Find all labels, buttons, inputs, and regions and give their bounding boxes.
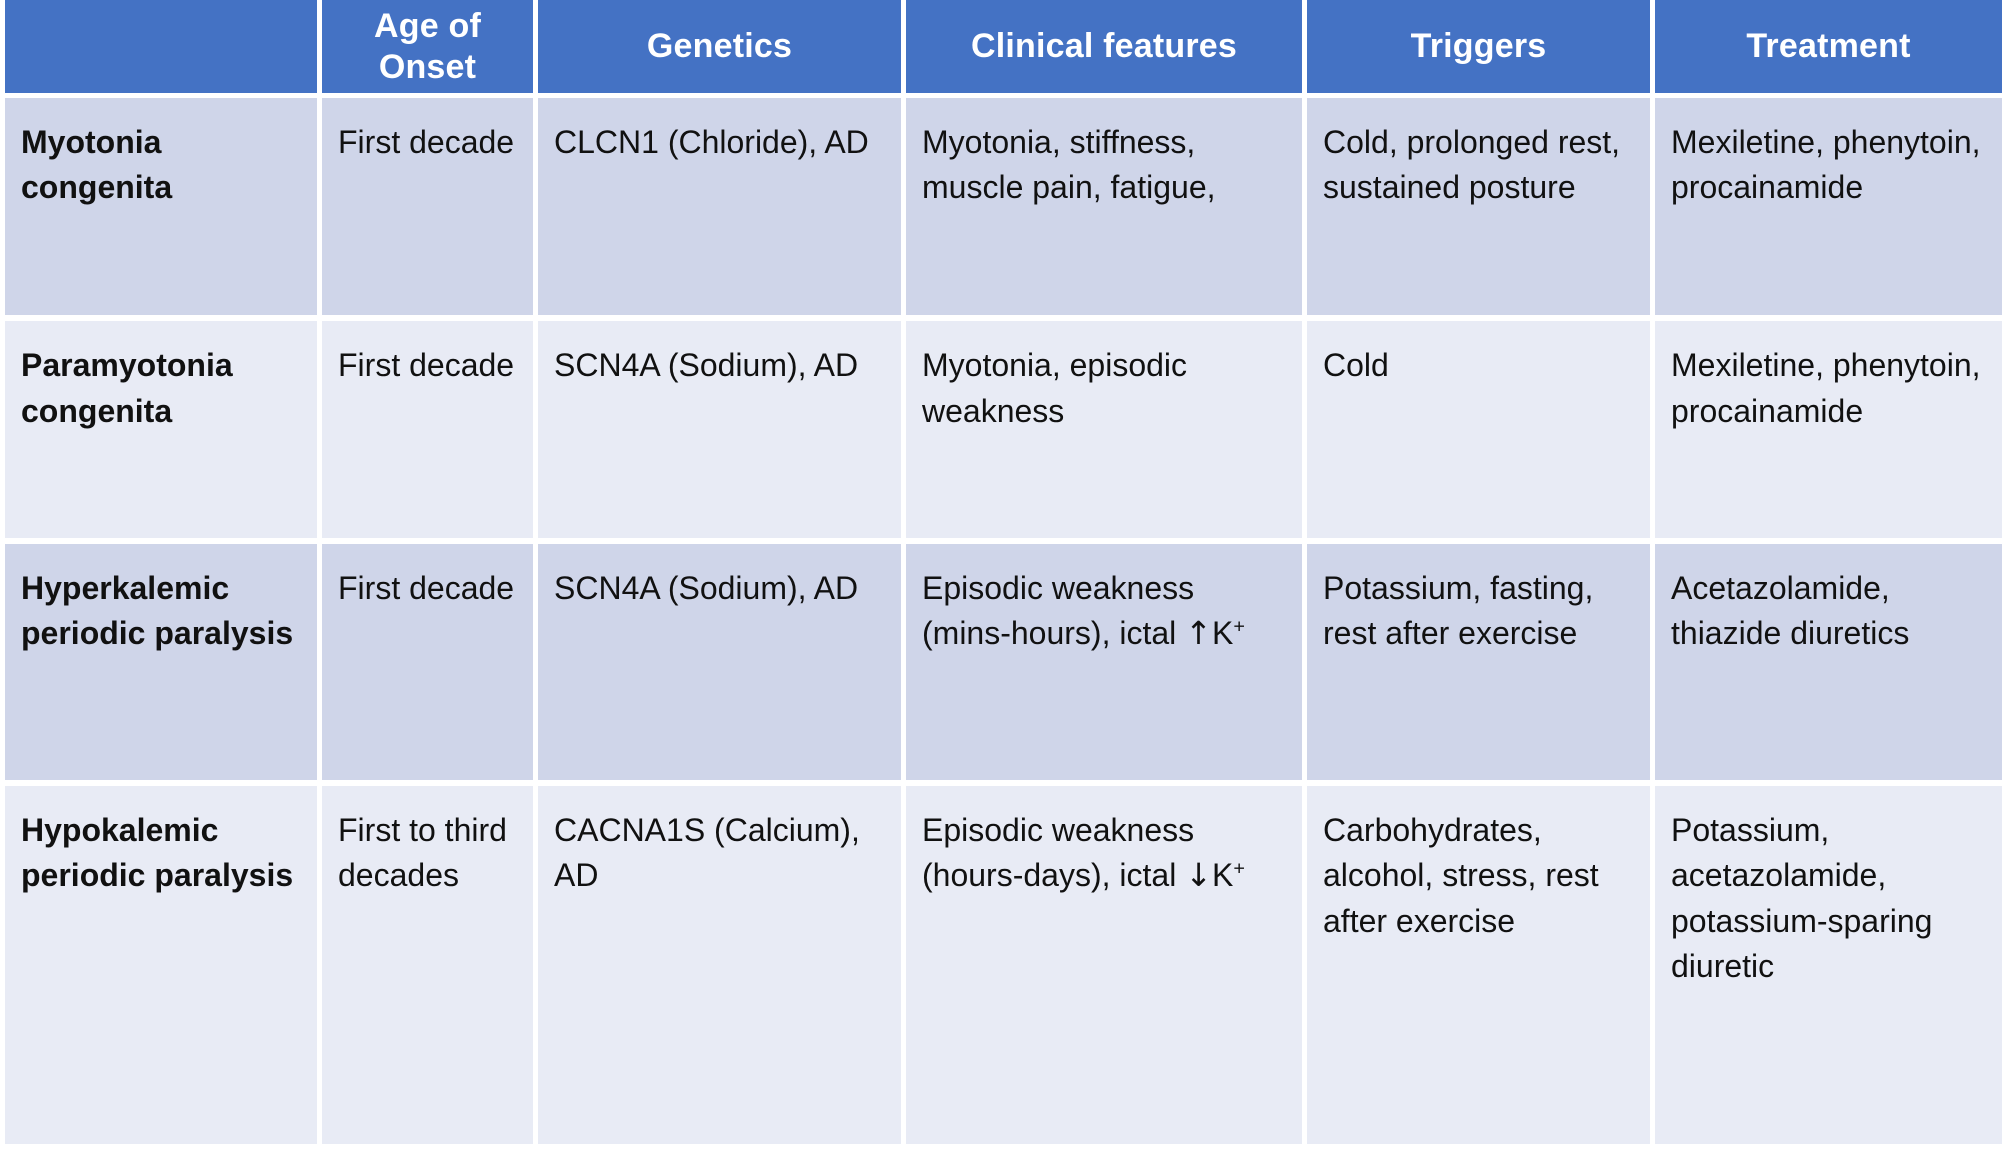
table-row: Myotonia congenita First decade CLCN1 (C… [0,98,2007,321]
cell-triggers: Potassium, fasting, rest after exercise [1307,544,1655,786]
potassium-up-arrow-icon: ↑ [1185,614,1212,652]
cell-age: First decade [322,321,538,543]
cell-triggers: Carbohydrates, alcohol, stress, rest aft… [1307,786,1655,1150]
header-cell-condition [0,0,322,98]
table-row: Hypokalemic periodic paralysis First to … [0,786,2007,1150]
cell-clinical: Episodic weakness (mins-hours), ictal ↑K… [906,544,1307,786]
header-cell-triggers: Triggers [1307,0,1655,98]
cell-condition: Paramyotonia congenita [0,321,322,543]
cell-triggers: Cold, prolonged rest, sustained posture [1307,98,1655,321]
table-header: Age ofOnset Genetics Clinical features T… [0,0,2007,98]
cell-treatment: Potassium, acetazolamide, potassium-spar… [1655,786,2007,1150]
ion-symbol: K [1212,615,1233,651]
header-age-line-1: Age of [374,7,481,45]
cell-condition: Myotonia congenita [0,98,322,321]
cell-clinical: Myotonia, episodic weakness [906,321,1307,543]
table-row: Hyperkalemic periodic paralysis First de… [0,544,2007,786]
clinical-text: Episodic weakness (mins-hours), ictal [922,570,1194,651]
ion-charge: + [1233,858,1245,880]
cell-condition: Hypokalemic periodic paralysis [0,786,322,1150]
header-cell-clinical-features: Clinical features [906,0,1307,98]
ion-symbol: K [1212,857,1233,893]
channelopathy-comparison-table: Age ofOnset Genetics Clinical features T… [0,0,2007,1150]
header-cell-age-of-onset: Age ofOnset [322,0,538,98]
header-cell-treatment: Treatment [1655,0,2007,98]
clinical-text: Episodic weakness (hours-days), ictal [922,812,1194,893]
cell-treatment: Mexiletine, phenytoin, procainamide [1655,98,2007,321]
cell-age: First to third decades [322,786,538,1150]
cell-condition: Hyperkalemic periodic paralysis [0,544,322,786]
cell-treatment: Mexiletine, phenytoin, procainamide [1655,321,2007,543]
ion-charge: + [1233,616,1245,638]
header-age-line-2: Onset [379,48,476,86]
cell-triggers: Cold [1307,321,1655,543]
cell-genetics: CLCN1 (Chloride), AD [538,98,906,321]
cell-genetics: CACNA1S (Calcium), AD [538,786,906,1150]
potassium-down-arrow-icon: ↓ [1185,856,1212,894]
header-cell-genetics: Genetics [538,0,906,98]
cell-age: First decade [322,98,538,321]
cell-treatment: Acetazolamide, thiazide diuretics [1655,544,2007,786]
cell-age: First decade [322,544,538,786]
table-row: Paramyotonia congenita First decade SCN4… [0,321,2007,543]
cell-clinical: Myotonia, stiffness, muscle pain, fatigu… [906,98,1307,321]
cell-genetics: SCN4A (Sodium), AD [538,321,906,543]
table-body: Myotonia congenita First decade CLCN1 (C… [0,98,2007,1150]
cell-clinical: Episodic weakness (hours-days), ictal ↓K… [906,786,1307,1150]
header-row: Age ofOnset Genetics Clinical features T… [0,0,2007,98]
cell-genetics: SCN4A (Sodium), AD [538,544,906,786]
